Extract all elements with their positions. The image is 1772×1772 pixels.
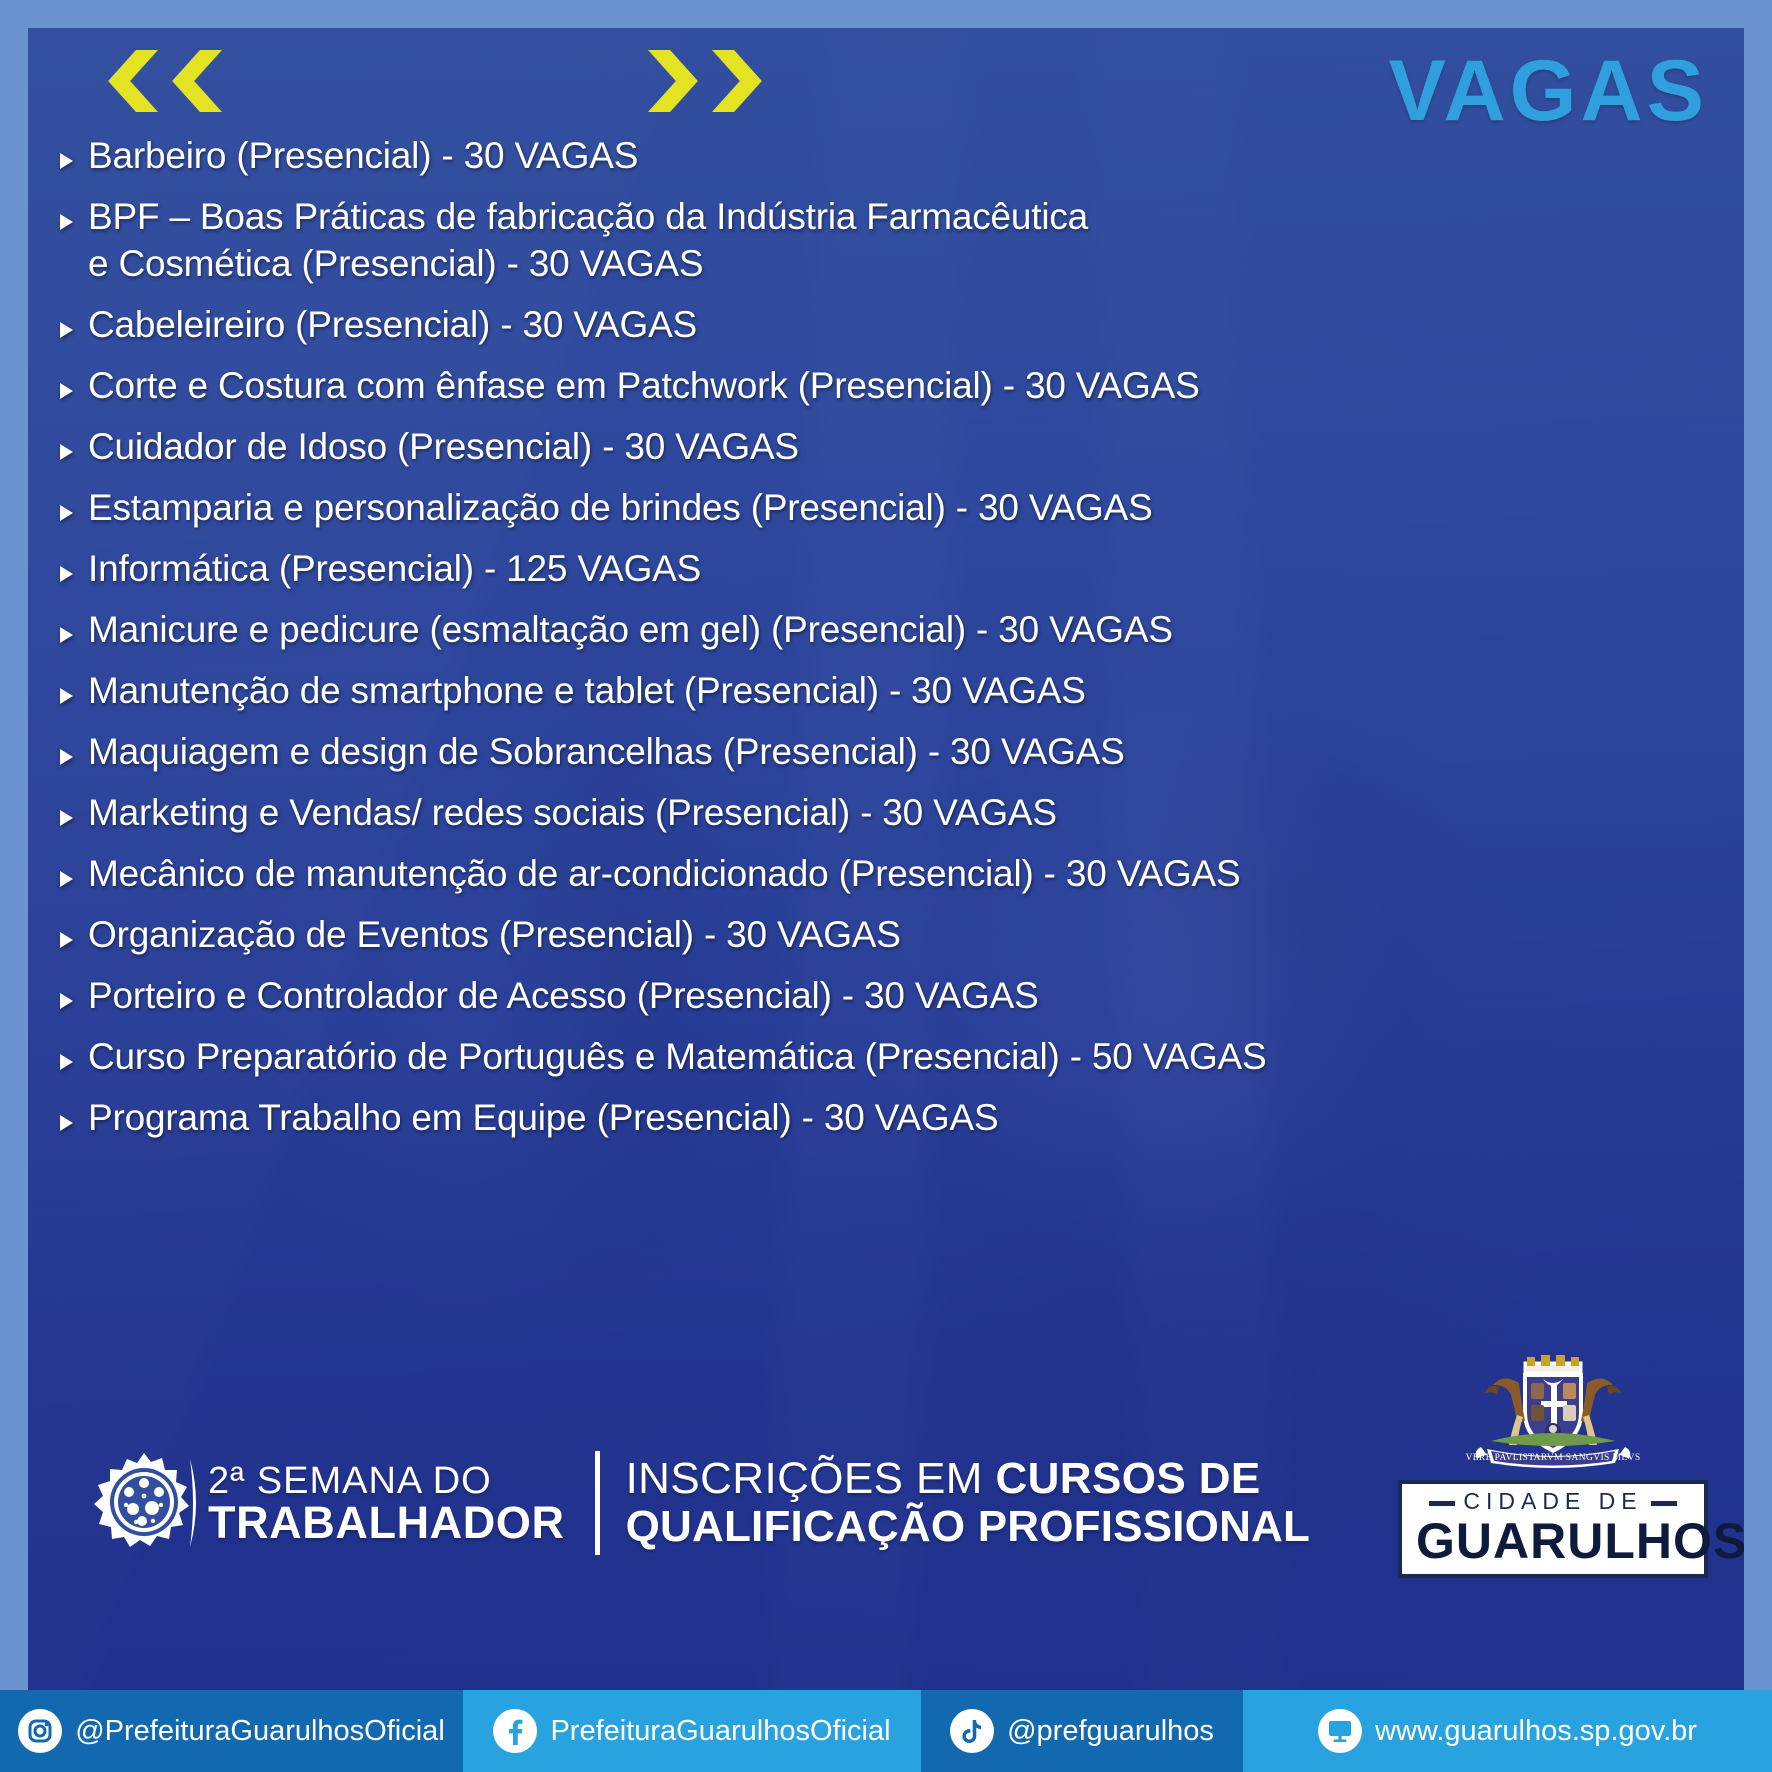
course-label: BPF – Boas Práticas de fabricação da Ind… [88, 194, 1088, 288]
page-title: VAGAS [1389, 48, 1708, 134]
course-label: Informática (Presencial) - 125 VAGAS [88, 546, 701, 593]
triangle-bullet-icon [56, 684, 78, 706]
callout-line1-light: INSCRIÇÕES EM [626, 1454, 996, 1503]
social-item-instagram[interactable]: @PrefeituraGuarulhosOficial [0, 1690, 463, 1772]
instagram-icon [18, 1709, 62, 1753]
course-label: Organização de Eventos (Presencial) - 30… [88, 912, 901, 959]
callout-line2: QUALIFICAÇÃO PROFISSIONAL [626, 1503, 1311, 1551]
social-handle: www.guarulhos.sp.gov.br [1375, 1715, 1697, 1748]
gear-globe-icon [90, 1449, 198, 1557]
course-label: Estamparia e personalização de brindes (… [88, 485, 1153, 532]
course-label: Porteiro e Controlador de Acesso (Presen… [88, 973, 1039, 1020]
course-label: Barbeiro (Presencial) - 30 VAGAS [88, 133, 638, 180]
double-chevron-left-icon [100, 50, 222, 112]
social-handle: @PrefeituraGuarulhosOficial [75, 1715, 445, 1748]
triangle-bullet-icon [56, 149, 78, 171]
callout-line1-bold: CURSOS DE [995, 1454, 1260, 1503]
triangle-bullet-icon [56, 1111, 78, 1133]
semana-trabalhador-text: 2ª SEMANA DO TRABALHADOR [208, 1462, 565, 1545]
course-label: Manutenção de smartphone e tablet (Prese… [88, 668, 1086, 715]
semana-line2: TRABALHADOR [208, 1500, 565, 1545]
semana-trabalhador-logo: 2ª SEMANA DO TRABALHADOR [90, 1449, 565, 1557]
city-small-label: CIDADE DE [1455, 1490, 1650, 1513]
triangle-bullet-icon [56, 623, 78, 645]
course-label: Programa Trabalho em Equipe (Presencial)… [88, 1095, 998, 1142]
list-item: Manicure e pedicure (esmaltação em gel) … [56, 607, 1716, 654]
triangle-bullet-icon [56, 928, 78, 950]
list-item: Manutenção de smartphone e tablet (Prese… [56, 668, 1716, 715]
course-label: Corte e Costura com ênfase em Patchwork … [88, 363, 1200, 410]
vertical-divider [595, 1451, 600, 1555]
social-footer: @PrefeituraGuarulhosOficial PrefeituraGu… [0, 1690, 1772, 1772]
triangle-bullet-icon [56, 745, 78, 767]
course-label: Mecânico de manutenção de ar-condicionad… [88, 851, 1240, 898]
city-plate: CIDADE DE GUARULHOS [1398, 1480, 1708, 1578]
course-label: Curso Preparatório de Português e Matemá… [88, 1034, 1266, 1081]
list-item: Cabeleireiro (Presencial) - 30 VAGAS [56, 302, 1716, 349]
list-item: Programa Trabalho em Equipe (Presencial)… [56, 1095, 1716, 1142]
list-item: Informática (Presencial) - 125 VAGAS [56, 546, 1716, 593]
social-handle: @prefguarulhos [1007, 1715, 1214, 1748]
callout-line1: INSCRIÇÕES EM CURSOS DE [626, 1455, 1311, 1503]
guarulhos-coat-of-arms-icon: VERE PAVLISTARVM SANGVIS MEVS [1463, 1353, 1643, 1478]
callout-text: INSCRIÇÕES EM CURSOS DE QUALIFICAÇÃO PRO… [626, 1455, 1311, 1552]
triangle-bullet-icon [56, 1050, 78, 1072]
poster-card: VAGAS Barbeiro (Presencial) - 30 VAGAS B… [28, 28, 1744, 1690]
social-item-facebook[interactable]: PrefeituraGuarulhosOficial [463, 1690, 921, 1772]
course-label: Marketing e Vendas/ redes sociais (Prese… [88, 790, 1057, 837]
course-label: Maquiagem e design de Sobrancelhas (Pres… [88, 729, 1125, 776]
triangle-bullet-icon [56, 440, 78, 462]
course-label: Manicure e pedicure (esmaltação em gel) … [88, 607, 1173, 654]
triangle-bullet-icon [56, 210, 78, 232]
facebook-icon [493, 1709, 537, 1753]
course-list: Barbeiro (Presencial) - 30 VAGAS BPF – B… [56, 133, 1716, 1156]
list-item: Marketing e Vendas/ redes sociais (Prese… [56, 790, 1716, 837]
list-item: Mecânico de manutenção de ar-condicionad… [56, 851, 1716, 898]
triangle-bullet-icon [56, 501, 78, 523]
triangle-bullet-icon [56, 806, 78, 828]
list-item: Cuidador de Idoso (Presencial) - 30 VAGA… [56, 424, 1716, 471]
city-brand: VERE PAVLISTARVM SANGVIS MEVS CIDADE DE … [1398, 1353, 1708, 1578]
list-item: Maquiagem e design de Sobrancelhas (Pres… [56, 729, 1716, 776]
poster-root: VAGAS Barbeiro (Presencial) - 30 VAGAS B… [0, 0, 1772, 1772]
triangle-bullet-icon [56, 989, 78, 1011]
list-item: Corte e Costura com ênfase em Patchwork … [56, 363, 1716, 410]
list-item: BPF – Boas Práticas de fabricação da Ind… [56, 194, 1716, 288]
triangle-bullet-icon [56, 867, 78, 889]
city-big-label: GUARULHOS [1416, 1516, 1690, 1566]
triangle-bullet-icon [56, 562, 78, 584]
course-label: Cuidador de Idoso (Presencial) - 30 VAGA… [88, 424, 799, 471]
social-item-website[interactable]: www.guarulhos.sp.gov.br [1243, 1690, 1772, 1772]
tiktok-icon [950, 1709, 994, 1753]
double-chevron-right-icon [648, 50, 770, 112]
website-icon [1318, 1709, 1362, 1753]
list-item: Barbeiro (Presencial) - 30 VAGAS [56, 133, 1716, 180]
triangle-bullet-icon [56, 379, 78, 401]
social-item-tiktok[interactable]: @prefguarulhos [921, 1690, 1243, 1772]
list-item: Organização de Eventos (Presencial) - 30… [56, 912, 1716, 959]
list-item: Curso Preparatório de Português e Matemá… [56, 1034, 1716, 1081]
semana-line1: 2ª SEMANA DO [208, 1462, 565, 1500]
svg-text:VERE PAVLISTARVM SANGVIS MEVS: VERE PAVLISTARVM SANGVIS MEVS [1465, 1453, 1640, 1463]
list-item: Estamparia e personalização de brindes (… [56, 485, 1716, 532]
course-label: Cabeleireiro (Presencial) - 30 VAGAS [88, 302, 697, 349]
social-handle: PrefeituraGuarulhosOficial [550, 1715, 890, 1748]
triangle-bullet-icon [56, 318, 78, 340]
list-item: Porteiro e Controlador de Acesso (Presen… [56, 973, 1716, 1020]
